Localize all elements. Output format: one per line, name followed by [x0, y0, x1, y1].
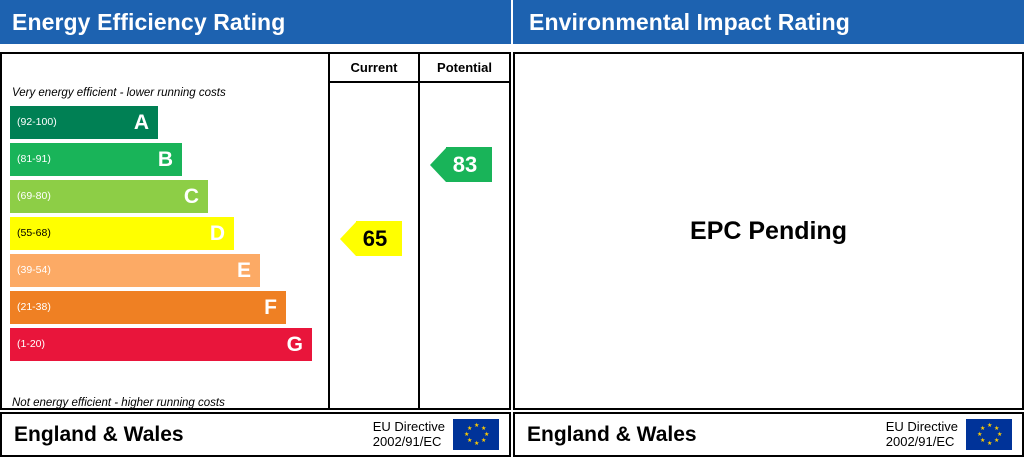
- band-e: (39-54) E: [10, 254, 260, 287]
- environmental-impact-title: Environmental Impact Rating: [513, 9, 850, 36]
- energy-efficiency-header: Energy Efficiency Rating: [0, 0, 511, 44]
- footer-right: England & Wales EU Directive 2002/91/EC …: [513, 412, 1024, 457]
- band-b: (81-91) B: [10, 143, 182, 176]
- band-c: (69-80) C: [10, 180, 208, 213]
- epc-graphic: Energy Efficiency Rating Environmental I…: [0, 0, 1024, 457]
- band-e-range: (39-54): [10, 265, 51, 276]
- band-d: (55-68) D: [10, 217, 234, 250]
- band-g-range: (1-20): [10, 339, 45, 350]
- column-divider-2: [418, 83, 420, 408]
- band-a-letter: A: [134, 111, 149, 135]
- band-g: (1-20) G: [10, 328, 312, 361]
- eu-flag-icon: ★★ ★★ ★★ ★★: [966, 419, 1012, 450]
- current-rating-value: 65: [356, 221, 402, 256]
- footer-right-directive-line2: 2002/91/EC: [886, 435, 958, 450]
- footer-left-directive-line2: 2002/91/EC: [373, 435, 445, 450]
- current-marker-arrow: [340, 222, 356, 256]
- band-f: (21-38) F: [10, 291, 286, 324]
- band-a-range: (92-100): [10, 117, 57, 128]
- environmental-impact-chart: EPC Pending: [513, 52, 1024, 410]
- footer-left: England & Wales EU Directive 2002/91/EC …: [0, 412, 511, 457]
- potential-rating-marker: 83: [430, 147, 492, 182]
- band-b-letter: B: [158, 148, 173, 172]
- epc-pending-message: EPC Pending: [515, 54, 1022, 408]
- band-b-range: (81-91): [10, 154, 51, 165]
- footer-right-directive-line1: EU Directive: [886, 420, 958, 435]
- column-header-current: Current: [328, 54, 418, 83]
- potential-marker-arrow: [430, 148, 446, 182]
- current-rating-marker: 65: [340, 221, 402, 256]
- caption-efficient: Very energy efficient - lower running co…: [12, 87, 226, 99]
- caption-inefficient: Not energy efficient - higher running co…: [12, 397, 225, 409]
- energy-efficiency-chart: Current Potential Very energy efficient …: [0, 52, 511, 410]
- footer-left-country: England & Wales: [2, 423, 373, 447]
- band-f-range: (21-38): [10, 302, 51, 313]
- environmental-impact-header: Environmental Impact Rating: [513, 0, 1024, 44]
- band-e-letter: E: [237, 259, 251, 283]
- band-d-range: (55-68): [10, 228, 51, 239]
- energy-efficiency-title: Energy Efficiency Rating: [0, 9, 285, 36]
- footer-left-directive: EU Directive 2002/91/EC: [373, 420, 453, 450]
- band-d-letter: D: [210, 222, 225, 246]
- footer-right-directive: EU Directive 2002/91/EC: [886, 420, 966, 450]
- column-divider-1: [328, 83, 330, 408]
- band-c-range: (69-80): [10, 191, 51, 202]
- band-c-letter: C: [184, 185, 199, 209]
- band-g-letter: G: [287, 333, 303, 357]
- footer-right-country: England & Wales: [515, 423, 886, 447]
- band-f-letter: F: [264, 296, 277, 320]
- column-header-potential: Potential: [418, 54, 509, 83]
- footer-left-directive-line1: EU Directive: [373, 420, 445, 435]
- potential-rating-value: 83: [446, 147, 492, 182]
- eu-flag-icon: ★★ ★★ ★★ ★★: [453, 419, 499, 450]
- rating-bands: (92-100) A (81-91) B (69-80) C (55-68) D…: [10, 106, 312, 365]
- band-a: (92-100) A: [10, 106, 158, 139]
